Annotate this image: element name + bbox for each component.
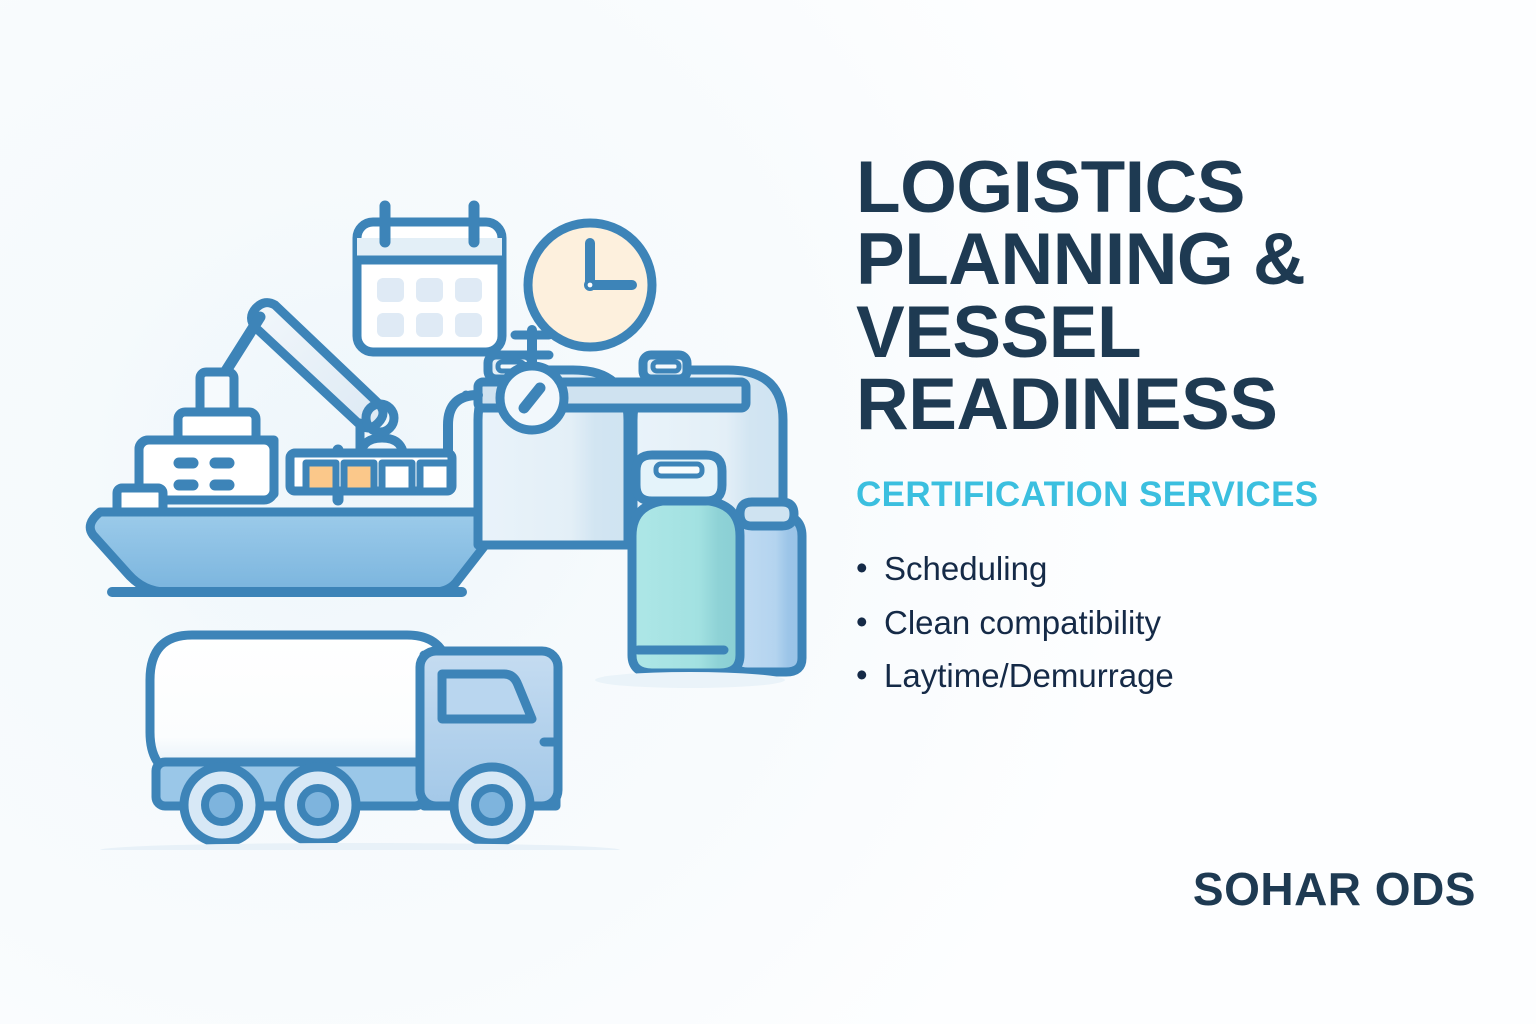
title-line-3: VESSEL [856,297,1476,369]
page-subtitle: CERTIFICATION SERVICES [856,475,1476,515]
tanker-truck-icon [150,635,558,843]
title-line-4: READINESS [856,369,1476,441]
list-item: Clean compatibility [856,596,1476,649]
list-item: Laytime/Demurrage [856,649,1476,702]
logistics-illustration [60,150,820,850]
page-title: LOGISTICS PLANNING & VESSEL READINESS [856,152,1476,441]
list-item: Scheduling [856,542,1476,595]
clock-icon [528,223,652,347]
calendar-icon [357,206,502,352]
slide-canvas: LOGISTICS PLANNING & VESSEL READINESS CE… [0,0,1536,1024]
brand-name: SOHAR ODS [1193,862,1476,916]
cylinder-shadow [595,672,785,688]
text-column: LOGISTICS PLANNING & VESSEL READINESS CE… [856,152,1476,702]
service-bullet-list: Scheduling Clean compatibility Laytime/D… [856,542,1476,702]
title-line-1: LOGISTICS [856,152,1476,224]
title-line-2: PLANNING & [856,224,1476,296]
truck-shadow [100,843,620,850]
